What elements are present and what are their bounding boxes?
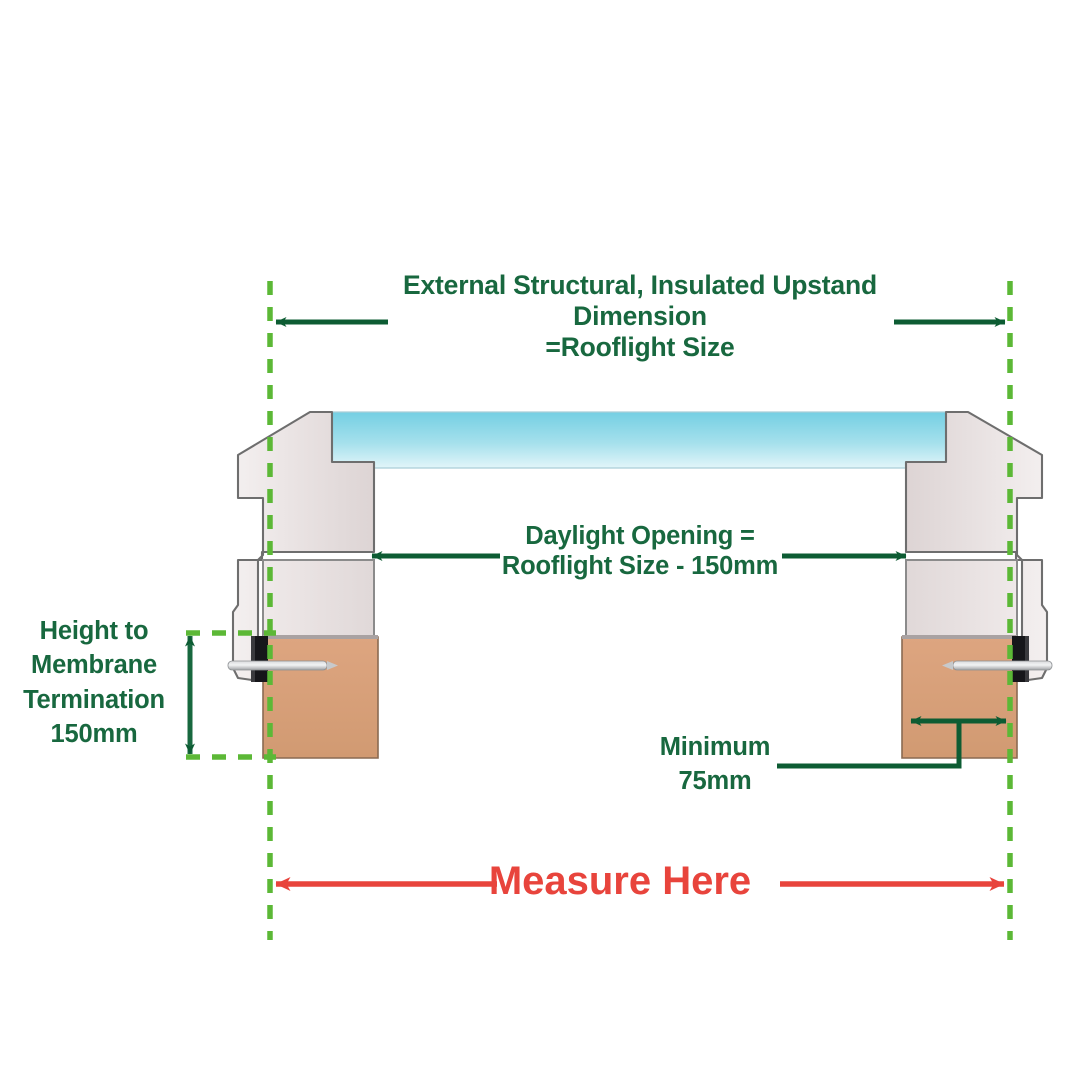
upstand-dimension-label: External Structural, Insulated Upstand D… <box>330 270 950 363</box>
height-to-membrane-label: Height to Membrane Termination 150mm <box>4 614 184 752</box>
minimum-dimension-label: Minimum 75mm <box>620 730 810 799</box>
measure-here-label: Measure Here <box>450 858 790 905</box>
left-timber-kerb <box>263 637 378 758</box>
right-insulated-upstand <box>906 560 1017 640</box>
right-fixing-screw <box>942 661 1052 670</box>
diagram-canvas: External Structural, Insulated Upstand D… <box>0 0 1080 1080</box>
right-membrane-termination-bar <box>1012 636 1029 682</box>
daylight-opening-label: Daylight Opening = Rooflight Size - 150m… <box>400 522 880 582</box>
left-insulated-upstand <box>263 560 374 640</box>
glazing-panel <box>330 412 968 468</box>
left-membrane-termination-bar <box>251 636 268 682</box>
left-fixing-screw <box>228 661 338 670</box>
